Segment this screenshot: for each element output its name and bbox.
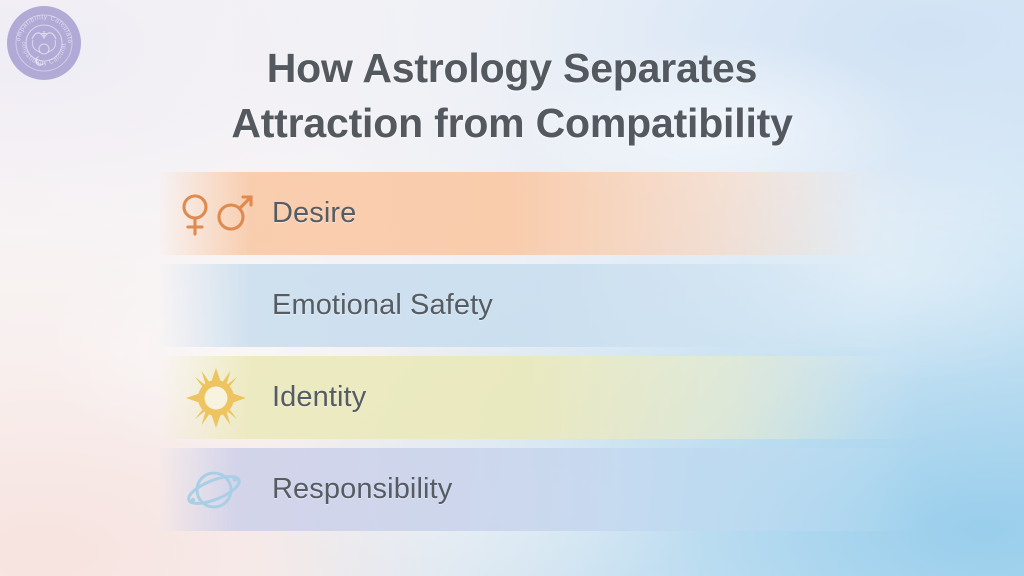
page-title-line-2: Attraction from Compatibility xyxy=(0,96,1024,150)
venus-mars-icon xyxy=(160,189,272,239)
list-item-identity: Identity xyxy=(160,356,920,439)
saturn-planet-icon xyxy=(160,462,272,518)
list-item-desire: Desire xyxy=(160,172,920,255)
list-item-label-desire: Desire xyxy=(272,197,356,230)
page-title: How Astrology Separates Attraction from … xyxy=(0,41,1024,149)
slide-canvas: Compatibility Calculator Compatibility C… xyxy=(0,0,1024,576)
list-item-emotional-safety: Emotional Safety xyxy=(160,264,920,347)
page-title-line-1: How Astrology Separates xyxy=(0,41,1024,95)
compatibility-calculator-logo: Compatibility Calculator Compatibility C… xyxy=(7,6,81,80)
list-item-responsibility: Responsibility xyxy=(160,448,920,531)
sun-icon xyxy=(160,367,272,429)
list-item-label-identity: Identity xyxy=(272,381,366,414)
crescent-moon-icon xyxy=(160,278,272,334)
list-item-label-responsibility: Responsibility xyxy=(272,473,452,506)
list-item-label-emotional-safety: Emotional Safety xyxy=(272,289,493,322)
attribute-list: Desire Emotional Safety xyxy=(160,172,920,531)
